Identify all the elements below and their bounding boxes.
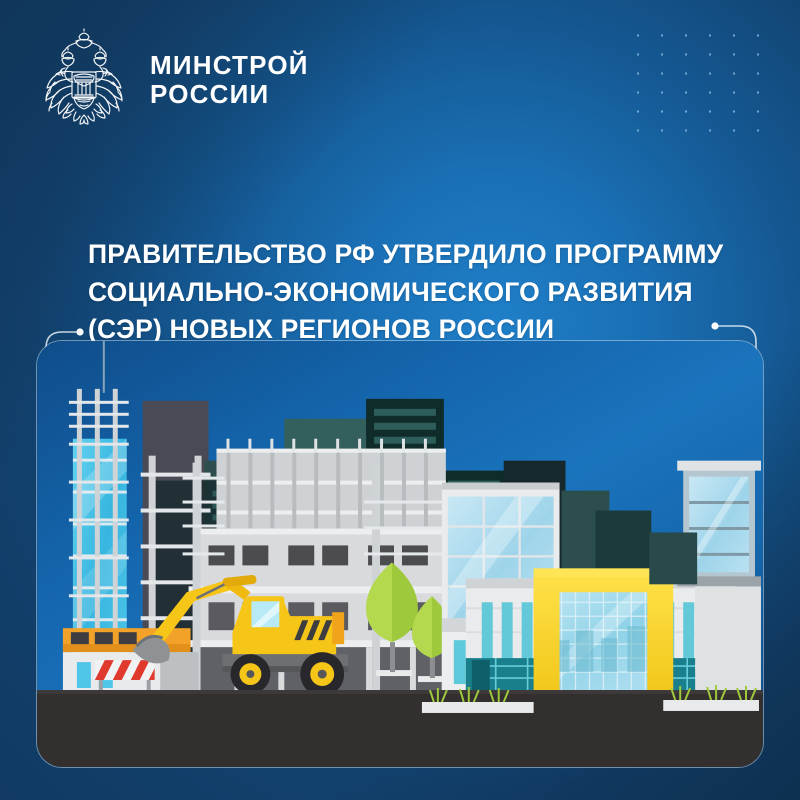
poster-canvas: Минстрой России Правительство РФ утверди…: [0, 0, 800, 800]
illustration-scene: [37, 341, 763, 768]
brand-logo-text: Минстрой России: [150, 51, 309, 109]
asphalt-road: [37, 692, 763, 768]
brand-line-2: России: [150, 80, 309, 109]
city-construction-illustration: [36, 340, 764, 768]
russian-coat-of-arms-emblem: [38, 28, 130, 132]
brand-logo: Минстрой России: [38, 28, 309, 132]
road-edge: [37, 690, 763, 694]
page-title-line-1: Правительство РФ утвердило программу: [88, 236, 748, 274]
page-title-line-2: социально-экономического развития: [88, 274, 748, 312]
dark-block-right: [649, 532, 697, 584]
page-title: Правительство РФ утвердило программу соц…: [88, 236, 748, 349]
brand-line-1: Минстрой: [150, 51, 309, 80]
dot-grid-pattern: [626, 26, 778, 138]
orange-site-cabin: [63, 628, 199, 690]
